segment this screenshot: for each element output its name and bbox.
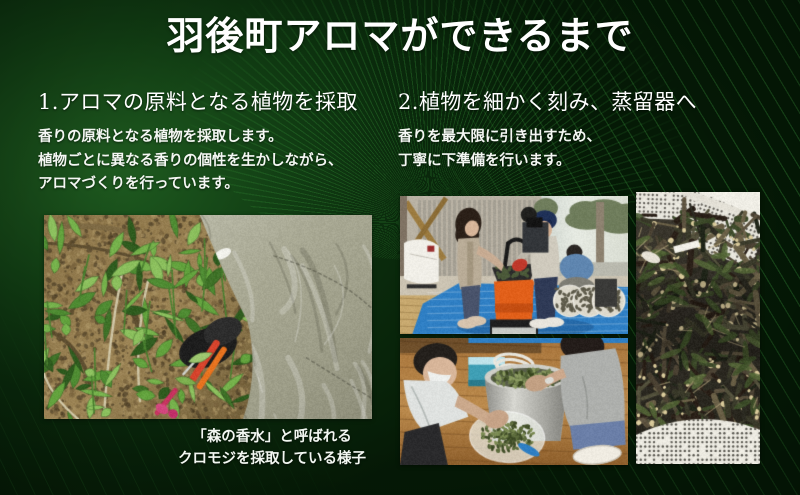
photo-filling <box>400 338 628 465</box>
page-title: 羽後町アロマができるまで <box>0 14 800 58</box>
step-2-body-line-1: 香りを最大限に引き出すため、 <box>398 126 768 149</box>
photo-shredder <box>400 196 628 334</box>
step-2-column: 2.植物を細かく刻み、蒸留器へ 香りを最大限に引き出すため、 丁寧に下準備を行い… <box>398 90 768 173</box>
step-1-body-line-2: 植物ごとに異なる香りの個性を生かしながら、 <box>38 150 388 173</box>
step-1-body-line-3: アロマづくりを行っています。 <box>38 173 388 196</box>
step-2-body-line-2: 丁寧に下準備を行います。 <box>398 150 768 173</box>
photo-harvest <box>44 215 372 419</box>
step-1-column: 1.アロマの原料となる植物を採取 香りの原料となる植物を採取します。 植物ごとに… <box>38 90 388 197</box>
caption-line-2: クロモジを採取している様子 <box>150 448 394 470</box>
step-1-body-line-1: 香りの原料となる植物を採取します。 <box>38 126 388 149</box>
step-2-heading: 2.植物を細かく刻み、蒸留器へ <box>398 90 768 115</box>
step-1-body: 香りの原料となる植物を採取します。 植物ごとに異なる香りの個性を生かしながら、 … <box>38 126 388 196</box>
photo-harvest-caption: 「森の香水」と呼ばれる クロモジを採取している様子 <box>150 426 394 471</box>
photo-branches <box>636 192 760 464</box>
poster-canvas: 羽後町アロマができるまで 1.アロマの原料となる植物を採取 香りの原料となる植物… <box>0 0 800 495</box>
step-2-body: 香りを最大限に引き出すため、 丁寧に下準備を行います。 <box>398 126 768 173</box>
step-1-heading: 1.アロマの原料となる植物を採取 <box>38 90 388 115</box>
caption-line-1: 「森の香水」と呼ばれる <box>150 426 394 448</box>
